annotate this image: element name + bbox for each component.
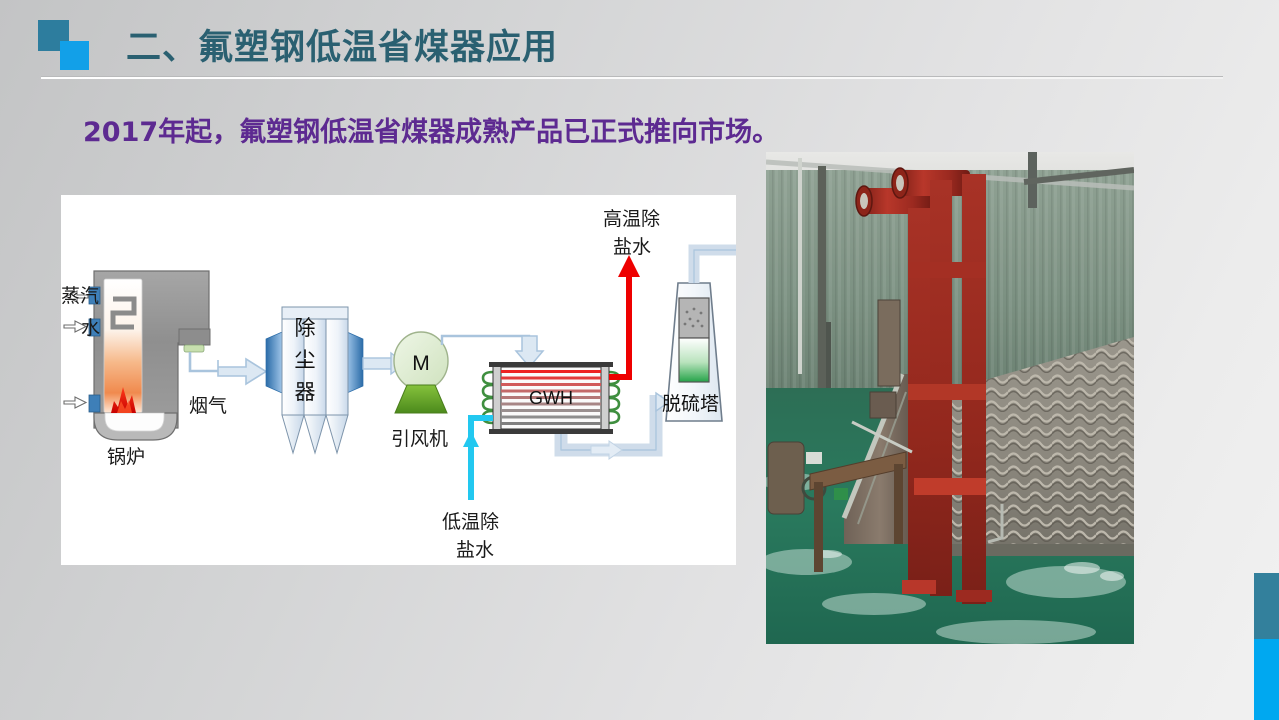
label-desulfurization-tower: 脱硫塔	[662, 393, 719, 415]
photo-red-brace-mid	[908, 384, 986, 400]
header-square-blue	[60, 41, 89, 70]
hot-water-arrow-icon	[618, 255, 640, 277]
label-low-temp-demin-water-line2: 盐水	[456, 539, 494, 561]
label-boiler: 锅炉	[107, 446, 145, 468]
gwh-header-left	[493, 365, 501, 431]
photo-bench-leg-1	[814, 482, 823, 572]
fan-base	[395, 385, 447, 413]
photo-pipe-thin-1	[798, 158, 802, 374]
fan-motor-symbol: M	[412, 352, 430, 375]
tower-stack-duct	[694, 250, 736, 283]
label-dust-collector-char-2: 尘	[295, 348, 316, 372]
boiler-gas-outlet	[179, 329, 210, 345]
gwh-header-right	[601, 365, 609, 431]
flue-gas-duct	[190, 352, 266, 384]
dust-collector-hopper-1	[282, 415, 304, 453]
process-flow-diagram: 蒸汽 水 燃烧物 锅炉 烟气	[61, 195, 736, 565]
label-fan: 引风机	[391, 428, 448, 450]
cold-water-arrow-icon	[463, 431, 479, 447]
induced-draft-fan-group: M	[394, 332, 448, 413]
label-flue-gas: 烟气	[189, 395, 227, 417]
equipment-photo	[766, 152, 1134, 644]
photo-red-brace-top	[908, 262, 986, 278]
photo-flange-bore-1	[860, 193, 868, 209]
subtitle-text: 2017年起，氟塑钢低温省煤器成熟产品已正式推向市场。	[83, 110, 779, 149]
photo-flange-bore-2	[896, 175, 904, 191]
dust-collector-column-3	[326, 307, 348, 415]
dust-collector-inlet	[266, 332, 282, 393]
photo-green-fitting	[834, 488, 848, 500]
label-dust-collector-char-1: 除	[295, 316, 316, 340]
photo-background-tank	[768, 442, 804, 514]
page-title: 二、氟塑钢低温省煤器应用	[126, 19, 558, 70]
photo-red-base-plate-2	[956, 590, 992, 602]
label-dust-collector-char-3: 器	[295, 380, 316, 404]
photo-casing-bracket	[870, 392, 896, 418]
photo-bench-leg-2	[894, 464, 903, 544]
edge-decor-teal	[1254, 573, 1279, 639]
tower-liquid-section	[679, 338, 709, 382]
photo-small-box	[806, 452, 822, 464]
boiler-gas-outlet-flange	[184, 345, 204, 352]
label-high-temp-demin-water-line1: 高温除	[603, 208, 660, 230]
fuel-arrow-icon	[64, 397, 86, 408]
dust-collector-group: 除 尘 器	[266, 307, 363, 453]
label-low-temp-demin-water-line1: 低温除	[442, 511, 499, 533]
photo-red-base-plate-1	[902, 580, 936, 594]
label-high-temp-demin-water-line2: 盐水	[613, 236, 651, 258]
gwh-bottom-plate	[489, 429, 613, 434]
slide-root: 二、氟塑钢低温省煤器应用 2017年起，氟塑钢低温省煤器成熟产品已正式推向市场。	[0, 0, 1279, 720]
cold-demin-water-line	[463, 418, 493, 500]
dust-collector-outlet	[347, 332, 363, 393]
gwh-heat-exchanger-group: GWH	[483, 362, 619, 434]
photo-wall-post	[818, 166, 826, 392]
fuel-nozzle	[89, 395, 100, 412]
photo-casing-top-box	[878, 300, 900, 386]
gwh-top-plate	[489, 362, 613, 367]
label-gwh: GWH	[529, 388, 573, 408]
label-water: 水	[81, 317, 100, 339]
hot-demin-water-line	[609, 255, 640, 377]
edge-decor-blue	[1254, 639, 1279, 720]
header-divider	[41, 76, 1223, 79]
dust-collector-hopper-2	[304, 415, 326, 453]
tower-spray-section	[679, 298, 709, 338]
photo-red-brace-low	[914, 478, 986, 495]
boiler-bottom-inner	[105, 413, 164, 431]
flue-gas-arrow-icon	[218, 359, 266, 384]
label-steam: 蒸汽	[61, 285, 99, 307]
dust-collector-hopper-3	[326, 415, 348, 453]
